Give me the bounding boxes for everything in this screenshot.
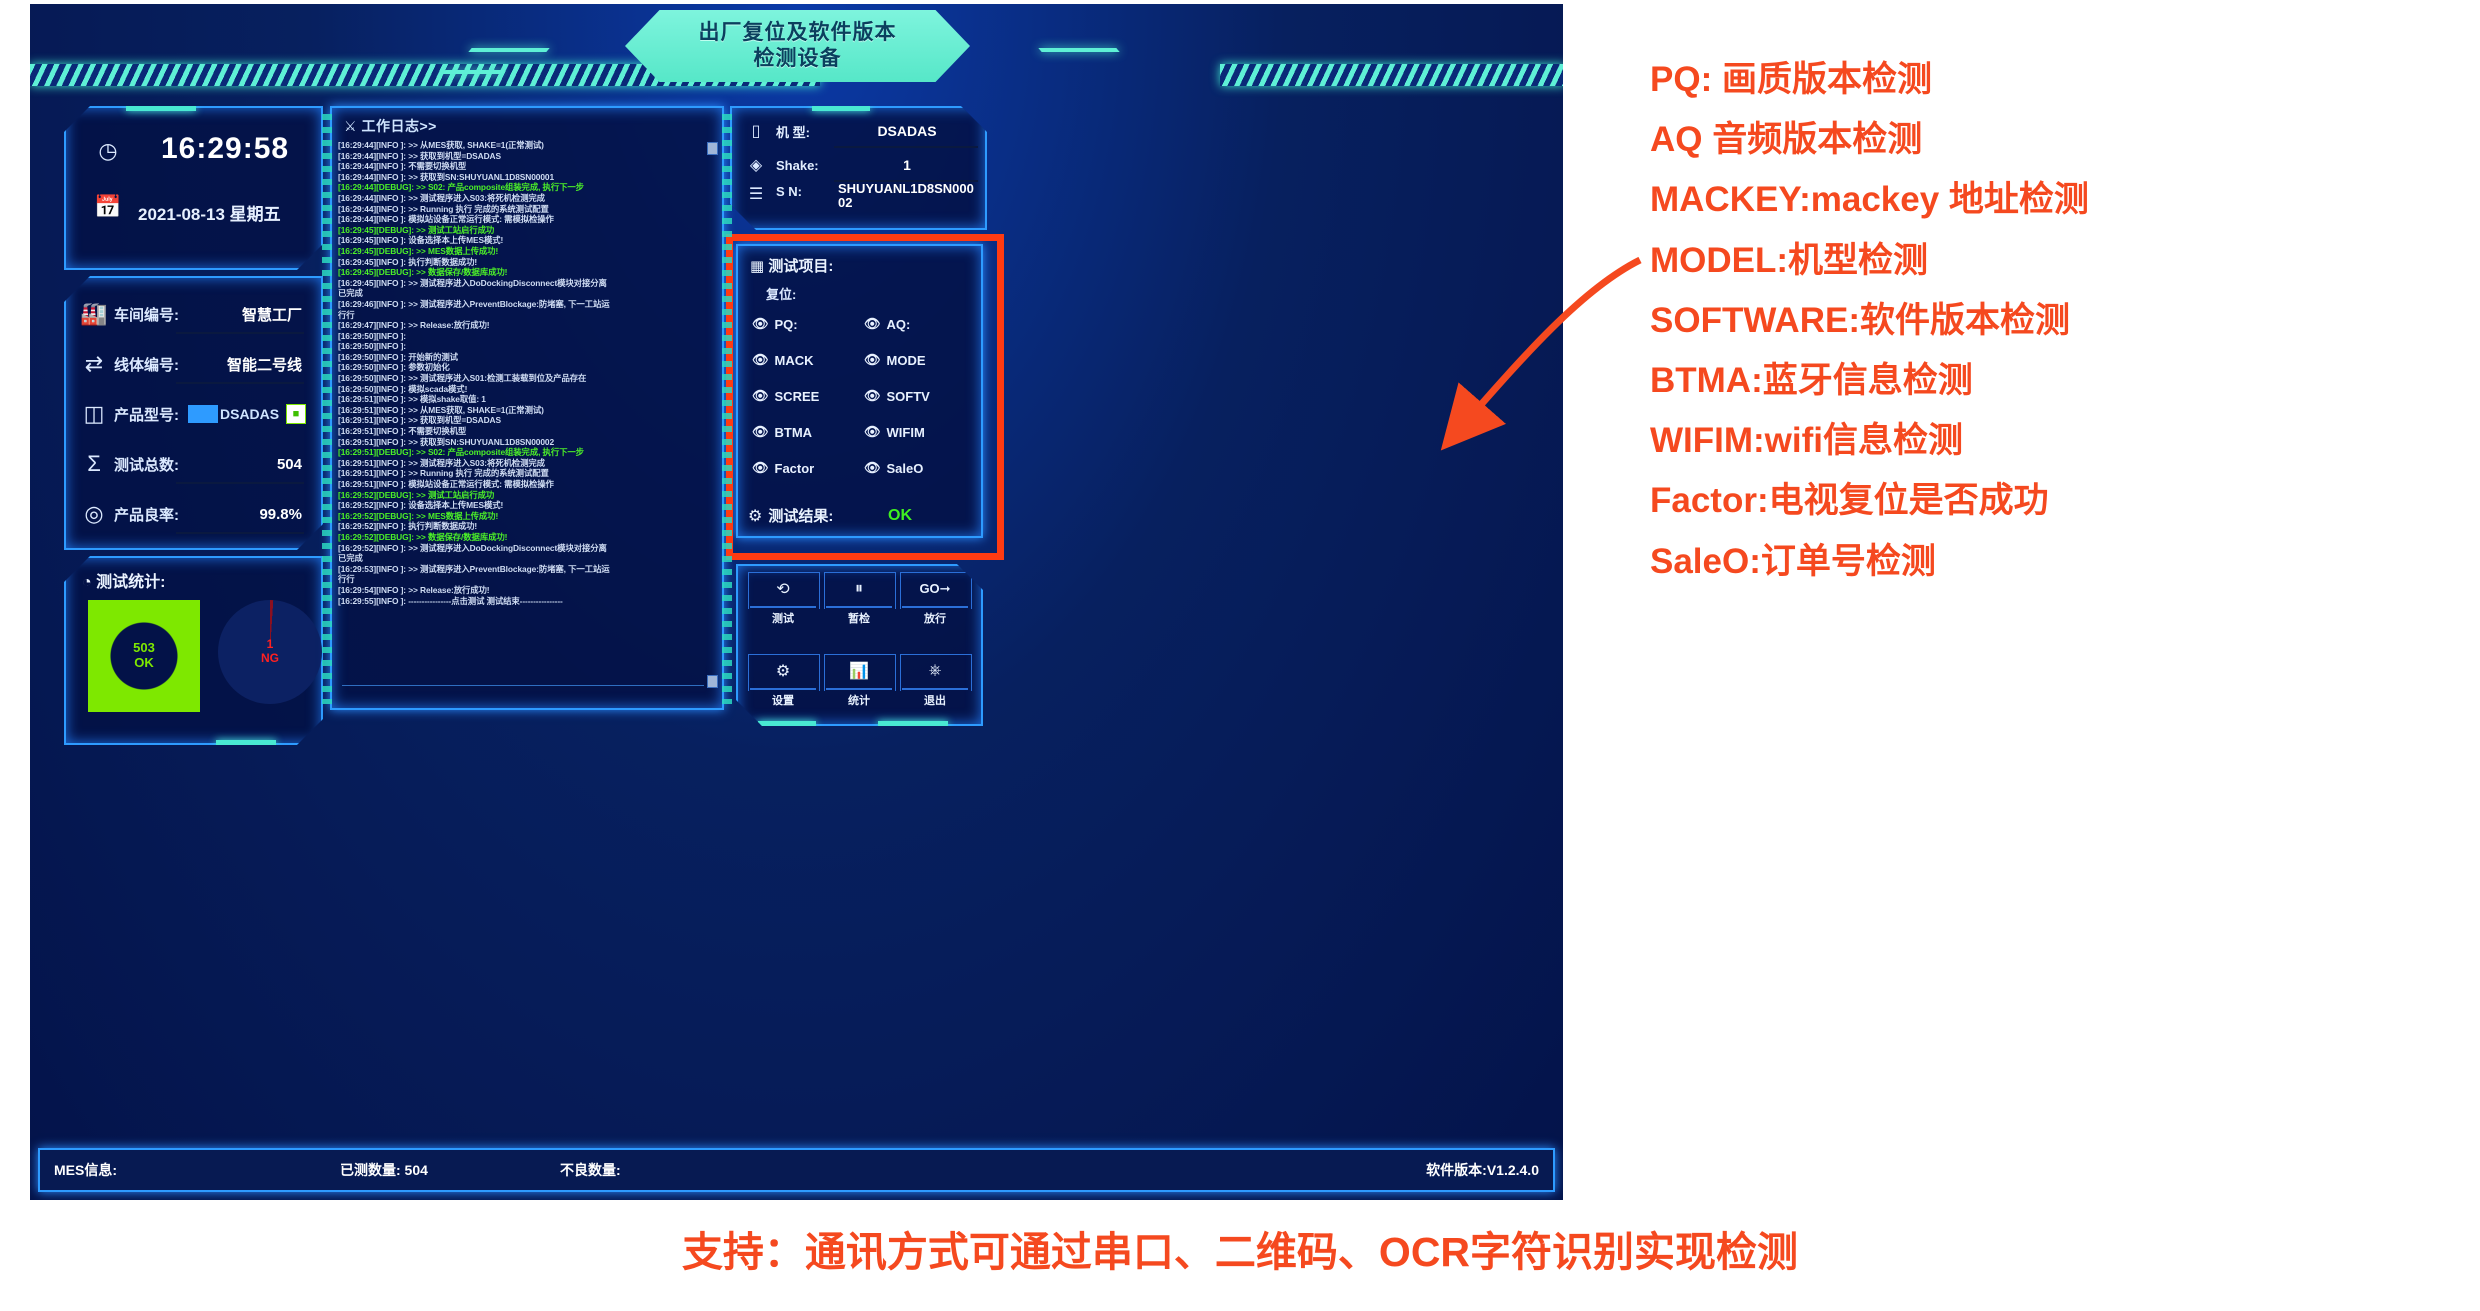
button-divider bbox=[902, 606, 968, 608]
log-line: 行行 bbox=[338, 574, 706, 585]
ng-label: NG bbox=[261, 652, 279, 666]
log-line: [16:29:45][DEBUG]: >> 测试工站启行成功 bbox=[338, 225, 706, 236]
log-divider bbox=[342, 685, 704, 686]
list-icon: ☰ bbox=[742, 184, 770, 204]
info-value: 智慧工厂 bbox=[242, 304, 302, 325]
release-button[interactable]: GO➞ 放行 bbox=[900, 572, 970, 634]
annotation-line: BTMA:蓝牙信息检测 bbox=[1650, 351, 2460, 411]
log-line: [16:29:44][INFO ]: >> 从MES获取, SHAKE=1(正常… bbox=[338, 140, 706, 151]
log-line: [16:29:55][INFO ]: ----------------点击测试 … bbox=[338, 596, 706, 607]
log-line: [16:29:51][INFO ]: >> 获取到SN:SHUYUANL1D8S… bbox=[338, 437, 706, 448]
device-label: Shake: bbox=[776, 158, 819, 173]
button-label: 放行 bbox=[924, 610, 946, 626]
log-line: [16:29:44][INFO ]: >> Running 执行 完成的系统测试… bbox=[338, 204, 706, 215]
log-line: [16:29:44][INFO ]: 不需要切换机型 bbox=[338, 161, 706, 172]
app-title-line2: 检测设备 bbox=[754, 46, 842, 72]
log-line: [16:29:52][INFO ]: >> 测试程序进入DoDockingDis… bbox=[338, 543, 706, 554]
decorative-rail-left bbox=[322, 114, 332, 704]
pie-chart-icon: ◔ bbox=[82, 574, 92, 591]
device-row-model: ▯ 机 型: DSADAS bbox=[742, 114, 978, 148]
control-buttons-panel: ⟲ 测试 ⏸ 暂检 GO➞ 放行 ⚙ 设置 📊 统计 ⎈ bbox=[736, 564, 983, 726]
button-label: 设置 bbox=[772, 692, 794, 708]
log-line: [16:29:44][INFO ]: 模拟站设备正常运行模式: 需模拟检操作 bbox=[338, 214, 706, 225]
app-title-badge: 出厂复位及软件版本 检测设备 bbox=[625, 10, 970, 82]
device-info-panel: ▯ 机 型: DSADAS ◈ Shake: 1 ☰ S N: SHUYUANL… bbox=[730, 106, 987, 230]
bar-chart-icon: 📊 bbox=[849, 654, 869, 688]
model-color-chip bbox=[188, 405, 218, 423]
info-row-model[interactable]: ◫ 产品型号: DSADAS ■ bbox=[80, 392, 308, 436]
decorative-arrow-right bbox=[1038, 48, 1119, 52]
model-dropdown-button[interactable]: ■ bbox=[286, 404, 306, 424]
log-title: ⚔ 工作日志>> bbox=[344, 116, 437, 136]
ok-donut-text: 503 OK bbox=[88, 600, 200, 712]
ng-donut-chart: 1 NG bbox=[218, 600, 322, 704]
status-version: 软件版本:V1.2.4.0 bbox=[1426, 1160, 1539, 1180]
annotation-arrow bbox=[1430, 250, 1660, 470]
button-label: 退出 bbox=[924, 692, 946, 708]
log-line: [16:29:50][INFO ]: 参数初始化 bbox=[338, 362, 706, 373]
go-icon: GO➞ bbox=[919, 572, 950, 606]
clock-icon: ◷ bbox=[94, 138, 122, 164]
annotation-line: MACKEY:mackey 地址检测 bbox=[1650, 170, 2460, 230]
ng-donut-text: 1 NG bbox=[218, 600, 322, 704]
figure-caption: 支持：通讯方式可通过串口、二维码、OCR字符识别实现检测 bbox=[0, 1218, 2480, 1278]
button-label: 测试 bbox=[772, 610, 794, 626]
device-label: 机 型: bbox=[776, 122, 810, 141]
log-line: [16:29:52][DEBUG]: >> 测试工站启行成功 bbox=[338, 490, 706, 501]
log-line: [16:29:44][INFO ]: >> 测试程序进入S03:将死机检测完成 bbox=[338, 193, 706, 204]
pause-button[interactable]: ⏸ 暂检 bbox=[824, 572, 894, 634]
device-value: SHUYUANL1D8SN00002 bbox=[838, 182, 976, 209]
decorative-arrow-left-2 bbox=[442, 70, 505, 74]
model-dropdown-value[interactable]: DSADAS bbox=[220, 406, 279, 422]
log-line: [16:29:50][INFO ]: >> 测试程序进入S01:检测工装载到位及… bbox=[338, 373, 706, 384]
gear-icon: ⚙ bbox=[776, 654, 790, 688]
target-icon: ◎ bbox=[80, 501, 108, 527]
info-label: 产品型号: bbox=[114, 404, 179, 425]
annotation-list: PQ: 画质版本检测 AQ 音频版本检测 MACKEY:mackey 地址检测 … bbox=[1650, 50, 2460, 592]
log-line: [16:29:52][INFO ]: 设备选择本上传MES模式! bbox=[338, 500, 706, 511]
current-time: 16:29:58 bbox=[161, 132, 289, 166]
decorative-arrow-left bbox=[468, 48, 549, 52]
field-underline bbox=[176, 382, 304, 384]
annotation-line: PQ: 画质版本检测 bbox=[1650, 50, 2460, 110]
button-divider bbox=[826, 688, 892, 690]
log-line: [16:29:51][DEBUG]: >> S02: 产品composite组装… bbox=[338, 447, 706, 458]
log-line: [16:29:47][INFO ]: >> Release:放行成功! bbox=[338, 320, 706, 331]
annotation-line: SaleO:订单号检测 bbox=[1650, 532, 2460, 592]
button-divider bbox=[750, 688, 816, 690]
info-row-total: Σ 测试总数: 504 bbox=[80, 442, 308, 486]
log-line: [16:29:45][DEBUG]: >> 数据保存/数据库成功! bbox=[338, 267, 706, 278]
status-bar: MES信息: 已测数量: 504 不良数量: 软件版本:V1.2.4.0 bbox=[38, 1148, 1555, 1192]
production-info-panel: 🏭 车间编号: 智慧工厂 ⇄ 线体编号: 智能二号线 ◫ 产品型号: DSADA… bbox=[64, 276, 323, 550]
log-line: 已完成 bbox=[338, 288, 706, 299]
statistics-button[interactable]: 📊 统计 bbox=[824, 654, 894, 716]
log-line: [16:29:52][DEBUG]: >> 数据保存/数据库成功! bbox=[338, 532, 706, 543]
test-button[interactable]: ⟲ 测试 bbox=[748, 572, 818, 634]
sigma-icon: Σ bbox=[80, 451, 108, 477]
decorative-hatch-right bbox=[1220, 64, 1563, 86]
field-underline bbox=[176, 532, 304, 534]
log-title-label: 工作日志>> bbox=[361, 118, 436, 134]
log-line: [16:29:51][INFO ]: >> 从MES获取, SHAKE=1(正常… bbox=[338, 405, 706, 416]
log-line: [16:29:52][INFO ]: 执行判断数据成功! bbox=[338, 521, 706, 532]
log-line: [16:29:44][INFO ]: >> 获取到机型=DSADAS bbox=[338, 151, 706, 162]
test-items-highlight-box bbox=[726, 234, 1004, 560]
button-divider bbox=[902, 688, 968, 690]
field-underline bbox=[176, 332, 304, 334]
annotation-line: WIFIM:wifi信息检测 bbox=[1650, 411, 2460, 471]
log-line: [16:29:50][INFO ]: bbox=[338, 331, 706, 342]
device-row-sn: ☰ S N: SHUYUANL1D8SN00002 bbox=[742, 182, 978, 226]
decorative-rail-right bbox=[722, 114, 732, 704]
test-statistics-panel: ◔ 测试统计: 503 OK 1 NG bbox=[64, 556, 323, 745]
product-icon: ◫ bbox=[80, 401, 108, 427]
info-label: 线体编号: bbox=[114, 354, 179, 375]
button-label: 统计 bbox=[848, 692, 870, 708]
button-divider bbox=[750, 606, 816, 608]
info-row-yield: ◎ 产品良率: 99.8% bbox=[80, 492, 308, 536]
log-line: [16:29:45][INFO ]: >> 测试程序进入DoDockingDis… bbox=[338, 278, 706, 289]
statistics-title-label: 测试统计: bbox=[96, 574, 165, 591]
work-log-panel: ⚔ 工作日志>> [16:29:44][INFO ]: >> 从MES获取, S… bbox=[330, 106, 724, 710]
clock-panel: ◷ 16:29:58 📅 2021-08-13 星期五 bbox=[64, 106, 323, 270]
app-title-line1: 出厂复位及软件版本 bbox=[699, 20, 897, 46]
shake-icon: ◈ bbox=[742, 155, 770, 175]
log-line: [16:29:51][INFO ]: >> 获取到机型=DSADAS bbox=[338, 415, 706, 426]
ng-count: 1 bbox=[267, 638, 274, 652]
log-scrollbar-bottom[interactable] bbox=[707, 675, 718, 688]
log-line: [16:29:46][INFO ]: >> 测试程序进入PreventBlock… bbox=[338, 299, 706, 310]
log-line: [16:29:50][INFO ]: 开始新的测试 bbox=[338, 352, 706, 363]
log-line: 行行 bbox=[338, 310, 706, 321]
log-line: [16:29:45][DEBUG]: >> MES数据上传成功! bbox=[338, 246, 706, 257]
calendar-icon: 📅 bbox=[94, 194, 122, 220]
log-line: [16:29:51][INFO ]: >> Running 执行 完成的系统测试… bbox=[338, 468, 706, 479]
line-icon: ⇄ bbox=[80, 351, 108, 377]
log-line: [16:29:45][INFO ]: 执行判断数据成功! bbox=[338, 257, 706, 268]
play-icon: ⟲ bbox=[776, 572, 789, 606]
log-line: [16:29:44][DEBUG]: >> S02: 产品composite组装… bbox=[338, 182, 706, 193]
device-value: 1 bbox=[838, 158, 976, 173]
log-line: 已完成 bbox=[338, 553, 706, 564]
settings-button[interactable]: ⚙ 设置 bbox=[748, 654, 818, 716]
monitor-icon: ▯ bbox=[742, 121, 770, 141]
info-label: 车间编号: bbox=[114, 304, 179, 325]
annotation-line: SOFTWARE:软件版本检测 bbox=[1650, 291, 2460, 351]
status-mes-info: MES信息: bbox=[54, 1160, 117, 1180]
power-icon: ⎈ bbox=[929, 654, 942, 688]
ok-label: OK bbox=[134, 656, 154, 671]
log-line: [16:29:51][INFO ]: 模拟站设备正常运行模式: 需模拟检操作 bbox=[338, 479, 706, 490]
device-label: S N: bbox=[776, 184, 802, 199]
log-line: [16:29:51][INFO ]: >> 测试程序进入S03:将死机检测完成 bbox=[338, 458, 706, 469]
status-bad-count: 不良数量: bbox=[560, 1160, 621, 1180]
annotation-line: AQ 音频版本检测 bbox=[1650, 110, 2460, 170]
log-line: [16:29:52][DEBUG]: >> MES数据上传成功! bbox=[338, 511, 706, 522]
factory-icon: 🏭 bbox=[80, 301, 108, 327]
log-output[interactable]: [16:29:44][INFO ]: >> 从MES获取, SHAKE=1(正常… bbox=[338, 140, 706, 690]
log-line: [16:29:44][INFO ]: >> 获取到SN:SHUYUANL1D8S… bbox=[338, 172, 706, 183]
ok-donut-chart: 503 OK bbox=[88, 600, 200, 712]
info-row-line: ⇄ 线体编号: 智能二号线 bbox=[80, 342, 308, 386]
current-date: 2021-08-13 星期五 bbox=[138, 200, 281, 225]
info-label: 产品良率: bbox=[114, 504, 179, 525]
pause-icon: ⏸ bbox=[855, 572, 863, 606]
device-value: DSADAS bbox=[838, 124, 976, 139]
device-row-shake: ◈ Shake: 1 bbox=[742, 148, 978, 182]
button-label: 暂检 bbox=[848, 610, 870, 626]
log-line: [16:29:54][INFO ]: >> Release:放行成功! bbox=[338, 585, 706, 596]
tools-icon: ⚔ bbox=[344, 118, 357, 134]
exit-button[interactable]: ⎈ 退出 bbox=[900, 654, 970, 716]
info-row-workshop: 🏭 车间编号: 智慧工厂 bbox=[80, 292, 308, 336]
field-underline bbox=[176, 482, 304, 484]
log-line: [16:29:45][INFO ]: 设备选择本上传MES模式! bbox=[338, 235, 706, 246]
info-label: 测试总数: bbox=[114, 454, 179, 475]
ok-count: 503 bbox=[133, 641, 155, 656]
log-line: [16:29:51][INFO ]: 不需要切换机型 bbox=[338, 426, 706, 437]
log-line: [16:29:51][INFO ]: >> 模拟shake取值: 1 bbox=[338, 394, 706, 405]
info-value: 504 bbox=[277, 456, 302, 473]
status-count: 已测数量: 504 bbox=[340, 1160, 428, 1180]
log-line: [16:29:53][INFO ]: >> 测试程序进入PreventBlock… bbox=[338, 564, 706, 575]
annotation-line: Factor:电视复位是否成功 bbox=[1650, 471, 2460, 531]
application-window: 出厂复位及软件版本 检测设备 ◷ 16:29:58 📅 2021-08-13 星… bbox=[30, 4, 1563, 1200]
log-line: [16:29:50][INFO ]: bbox=[338, 341, 706, 352]
statistics-title: ◔ 测试统计: bbox=[82, 568, 165, 592]
info-value: 智能二号线 bbox=[227, 354, 302, 375]
info-value: 99.8% bbox=[259, 506, 302, 523]
log-scrollbar-top[interactable] bbox=[707, 142, 718, 155]
button-divider bbox=[826, 606, 892, 608]
annotation-line: MODEL:机型检测 bbox=[1650, 231, 2460, 291]
log-line: [16:29:50][INFO ]: 模拟scada模式! bbox=[338, 384, 706, 395]
